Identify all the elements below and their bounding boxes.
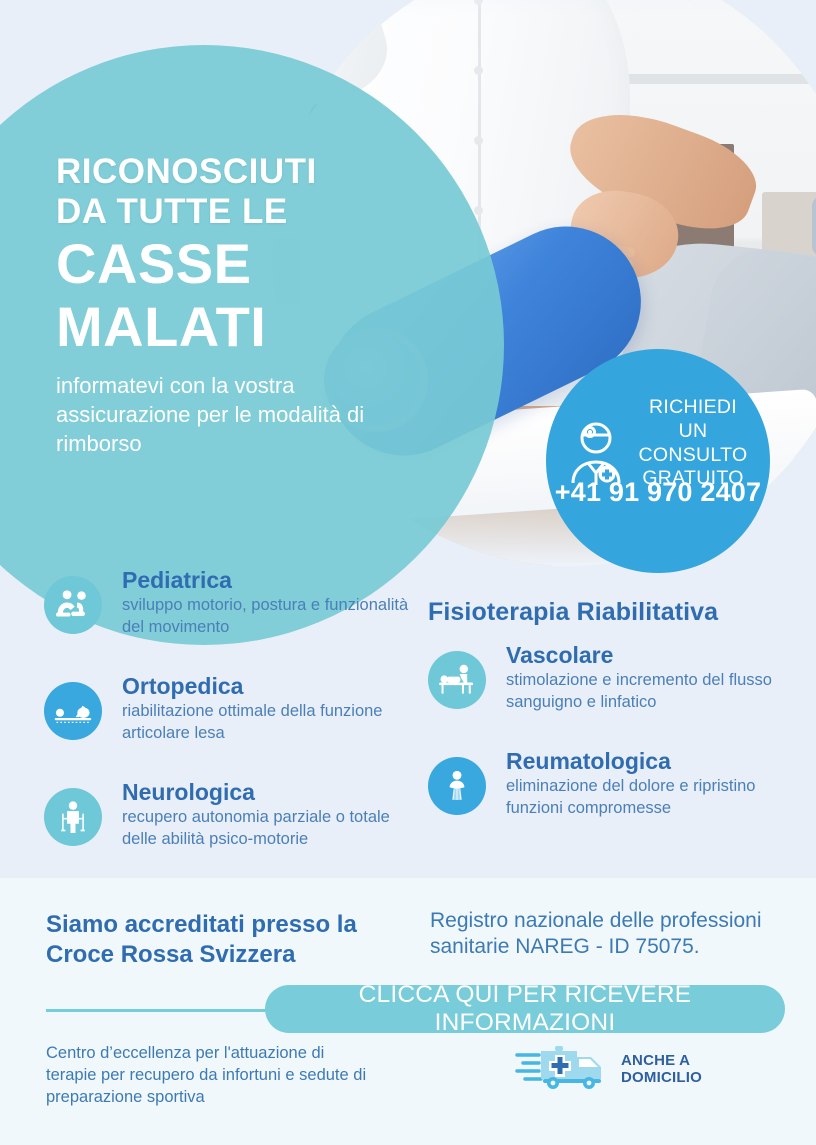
- home-service-line-1: ANCHE A: [621, 1052, 690, 1069]
- home-service-line-2: DOMICILIO: [621, 1069, 702, 1086]
- service-item-pediatrica: Pediatrica sviluppo motorio, postura e f…: [44, 568, 414, 668]
- photo-coat-button: [474, 136, 483, 145]
- patient-lying-icon: [44, 682, 102, 740]
- registry-text: Registro nazionale delle professioni san…: [430, 908, 800, 959]
- person-pain-icon: [428, 757, 486, 815]
- service-item-ortopedica: Ortopedica riabilitazione ottimale della…: [44, 674, 414, 774]
- service-description: stimolazione e incremento del flusso san…: [506, 670, 808, 713]
- photo-coat-button: [474, 66, 483, 75]
- headline-subtext: informatevi con la vostra assicurazione …: [56, 371, 408, 458]
- service-description: riabilitazione ottimale della funzione a…: [122, 701, 414, 744]
- headline-line-4: MALATI: [56, 298, 408, 357]
- ambulance-icon: [515, 1043, 611, 1096]
- service-description: recupero autonomia parziale o totale del…: [122, 807, 414, 850]
- consult-phone-number[interactable]: +41 91 970 2407: [554, 477, 762, 508]
- services-section: Pediatrica sviluppo motorio, postura e f…: [0, 560, 816, 878]
- service-item-reumatologica: Reumatologica eliminazione del dolore e …: [428, 749, 808, 849]
- services-column-right: Fisioterapia Riabilitativa: [428, 598, 808, 855]
- headline-block: RICONOSCIUTI DA TUTTE LE CASSE MALATI in…: [56, 152, 408, 458]
- photo-coat-button: [474, 206, 483, 215]
- service-title: Pediatrica: [122, 568, 414, 593]
- headline-line-1: RICONOSCIUTI: [56, 152, 408, 192]
- photo-fade-top: [272, 0, 816, 16]
- service-title: Reumatologica: [506, 749, 808, 774]
- massage-table-icon: [428, 651, 486, 709]
- service-title: Vascolare: [506, 643, 808, 668]
- service-description: eliminazione del dolore e ripristino fun…: [506, 776, 808, 819]
- consult-badge[interactable]: RICHIEDI UN CONSULTO GRATUITO +41 91 970…: [546, 349, 770, 573]
- promo-poster: RICONOSCIUTI DA TUTTE LE CASSE MALATI in…: [0, 0, 816, 1145]
- cta-rule: [46, 1009, 296, 1012]
- headline-line-3: CASSE: [56, 235, 408, 294]
- home-service-text: ANCHE A DOMICILIO: [621, 1053, 702, 1087]
- child-therapy-icon: [44, 576, 102, 634]
- consult-line-2: UN CONSULTO: [624, 420, 762, 468]
- photo-folded-towel: [812, 196, 816, 256]
- consult-line-1: RICHIEDI: [624, 396, 762, 420]
- services-right-heading: Fisioterapia Riabilitativa: [428, 598, 808, 627]
- service-description: sviluppo motorio, postura e funzionalità…: [122, 595, 414, 638]
- service-title: Neurologica: [122, 780, 414, 805]
- request-info-button[interactable]: CLICCA QUI PER RICEVERE INFORMAZIONI: [265, 985, 785, 1033]
- service-title: Ortopedica: [122, 674, 414, 699]
- walker-patient-icon: [44, 788, 102, 846]
- headline-line-2: DA TUTTE LE: [56, 192, 408, 232]
- service-item-vascolare: Vascolare stimolazione e incremento del …: [428, 643, 808, 743]
- service-item-neurologica: Neurologica recupero autonomia parziale …: [44, 780, 414, 880]
- services-column-left: Pediatrica sviluppo motorio, postura e f…: [44, 568, 414, 886]
- accreditation-heading: Siamo accreditati presso la Croce Rossa …: [46, 910, 386, 970]
- home-service-badge: ANCHE A DOMICILIO: [515, 1043, 702, 1096]
- excellence-note: Centro d’eccellenza per l'attuazione di …: [46, 1042, 376, 1108]
